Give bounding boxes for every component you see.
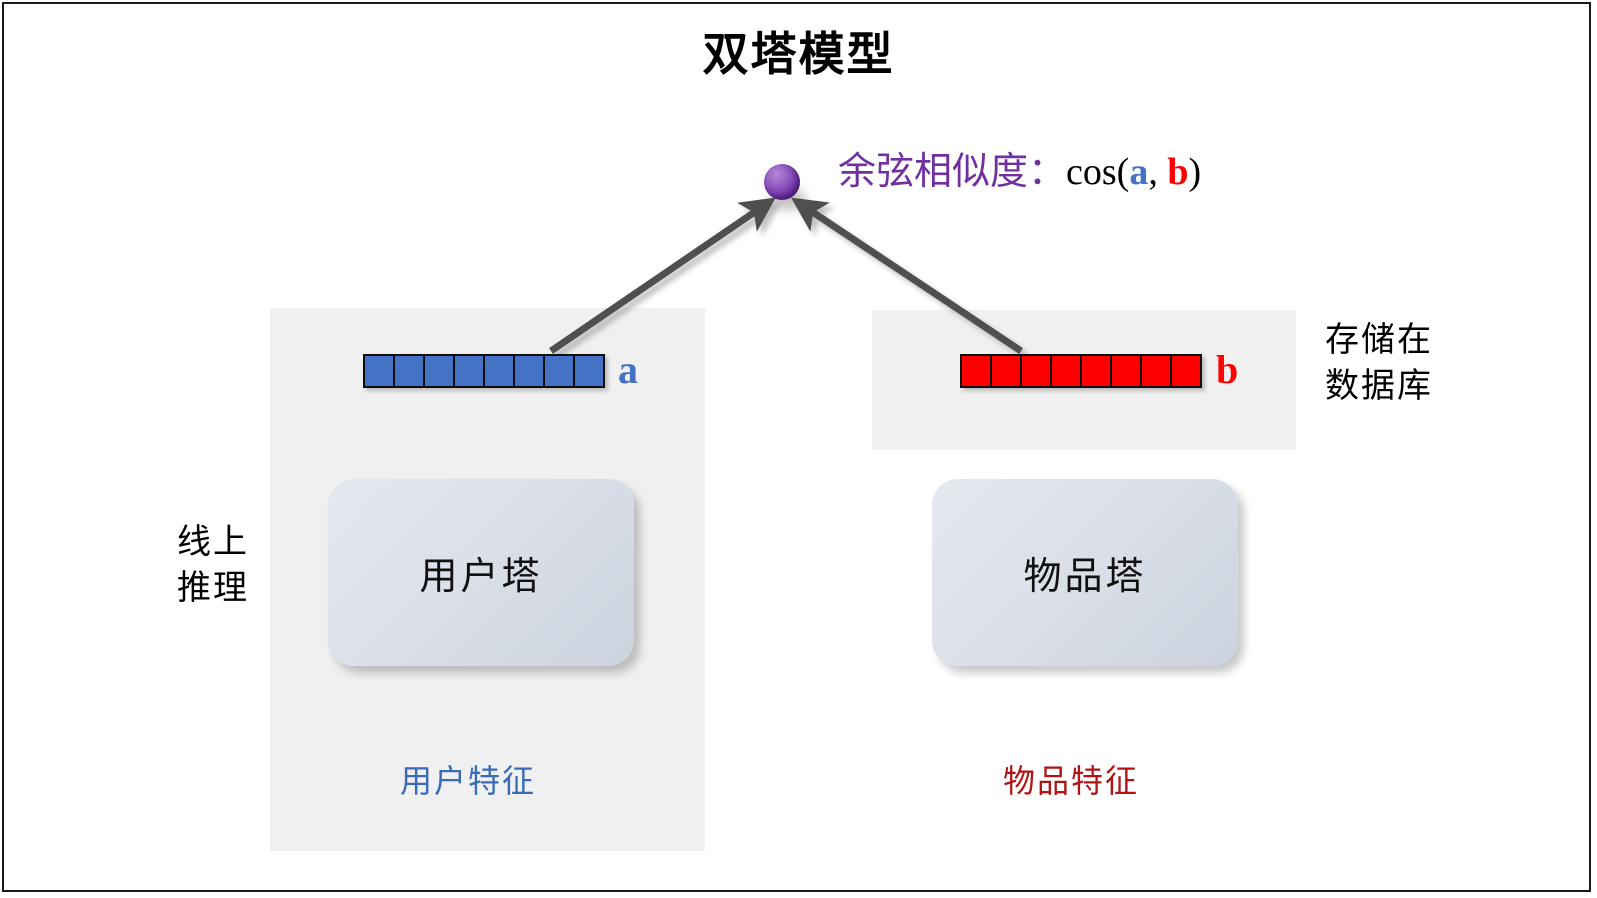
vector-cell bbox=[425, 356, 455, 386]
online-inference-note: 线上 推理 bbox=[158, 520, 268, 612]
vector-cell bbox=[365, 356, 395, 386]
item-embedding-vector bbox=[960, 354, 1202, 388]
vector-cell bbox=[515, 356, 545, 386]
item-feature-label: 物品特征 bbox=[1003, 765, 1139, 797]
cos-open-paren: cos( bbox=[1066, 151, 1129, 193]
vector-cell bbox=[575, 356, 603, 386]
item-embedding-label: b bbox=[1216, 350, 1238, 390]
vector-cell bbox=[962, 356, 992, 386]
vector-cell bbox=[992, 356, 1022, 386]
cos-close-paren: ) bbox=[1188, 151, 1201, 193]
vector-cell bbox=[395, 356, 425, 386]
cos-arg-b: b bbox=[1167, 151, 1188, 193]
item-tower-label: 物品塔 bbox=[1023, 545, 1146, 600]
user-tower-label: 用户塔 bbox=[419, 545, 542, 600]
vector-cell bbox=[1112, 356, 1142, 386]
vector-cell bbox=[485, 356, 515, 386]
vector-cell bbox=[1082, 356, 1112, 386]
vector-cell bbox=[1172, 356, 1200, 386]
diagram-canvas: 双塔模型 bbox=[0, 0, 1597, 898]
vector-cell bbox=[1052, 356, 1082, 386]
stored-in-database-note: 存储在 数据库 bbox=[1325, 318, 1455, 410]
vector-cell bbox=[455, 356, 485, 386]
user-feature-label: 用户特征 bbox=[400, 765, 536, 797]
cos-comma: , bbox=[1148, 151, 1167, 193]
vector-cell bbox=[1142, 356, 1172, 386]
cos-arg-a: a bbox=[1129, 151, 1148, 193]
vector-cell bbox=[1022, 356, 1052, 386]
user-embedding-label: a bbox=[618, 350, 638, 390]
cosine-similarity-node bbox=[764, 164, 800, 200]
cosine-similarity-label: 余弦相似度：cos(a, b) bbox=[838, 152, 1201, 191]
page-title: 双塔模型 bbox=[0, 18, 1597, 84]
slide-border bbox=[2, 2, 1591, 892]
user-tower-box: 用户塔 bbox=[328, 479, 634, 666]
user-embedding-vector bbox=[363, 354, 605, 388]
cosine-similarity-label-cn: 余弦相似度： bbox=[838, 149, 1066, 193]
item-tower-box: 物品塔 bbox=[932, 479, 1238, 666]
vector-cell bbox=[545, 356, 575, 386]
